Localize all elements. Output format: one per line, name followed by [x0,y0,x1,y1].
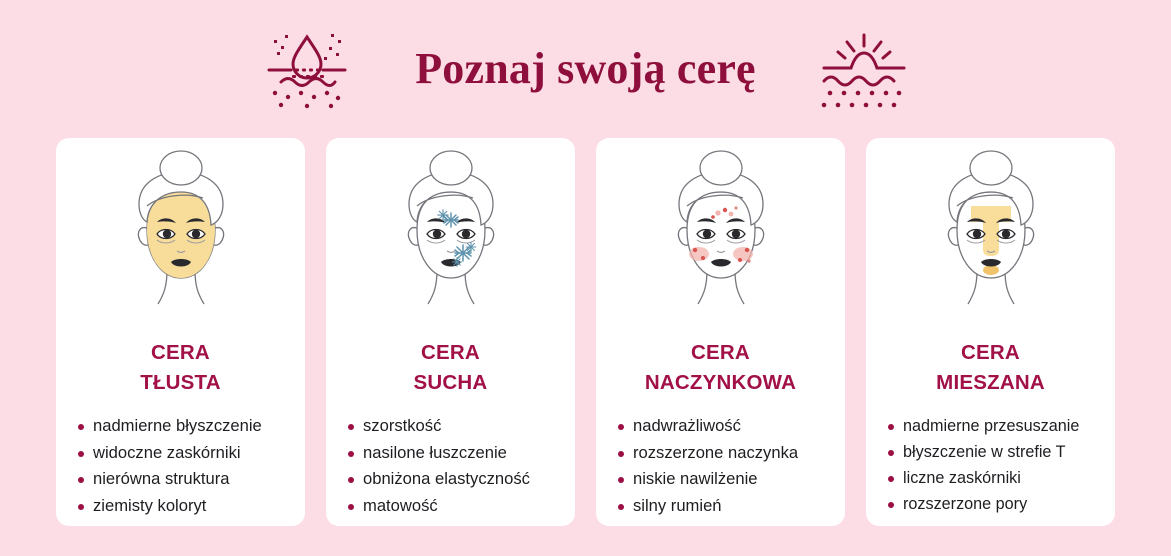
list-item: nadmierne błyszczenie [78,413,305,440]
face-oily-skin-illustration [81,150,281,322]
face-dry-skin-illustration [351,150,551,322]
list-item: ziemisty koloryt [78,493,305,520]
skin-type-card-oily[interactable]: CERA TŁUSTA nadmierne błyszczenie widocz… [56,138,305,526]
feature-list-oily: nadmierne błyszczenie widoczne zaskórnik… [56,413,305,521]
list-item: rozszerzone pory [888,491,1115,517]
card-title-combination: CERA MIESZANA [936,338,1045,399]
card-title-line1: CERA [140,338,221,368]
list-item: widoczne zaskórniki [78,440,305,467]
list-item: błyszczenie w strefie T [888,439,1115,465]
card-title-couperose: CERA NACZYNKOWA [645,338,796,399]
card-title-line2: NACZYNKOWA [645,368,796,398]
card-title-line2: MIESZANA [936,368,1045,398]
water-droplet-skin-icon [259,21,355,117]
list-item: rozszerzone naczynka [618,440,845,467]
list-item: liczne zaskórniki [888,465,1115,491]
list-item: nadwrażliwość [618,413,845,440]
card-title-line2: SUCHA [414,368,488,398]
list-item: nasilone łuszczenie [348,440,575,467]
card-title-line1: CERA [414,338,488,368]
pimple-skin-icon [816,21,912,117]
list-item: silny rumień [618,493,845,520]
page-title: Poznaj swoją cerę [415,47,756,91]
list-item: matowość [348,493,575,520]
card-title-oily: CERA TŁUSTA [140,338,221,399]
list-item: nierówna struktura [78,466,305,493]
feature-list-dry: szorstkość nasilone łuszczenie obniżona … [326,413,575,521]
list-item: nadmierne przesuszanie [888,413,1115,439]
card-title-line1: CERA [936,338,1045,368]
skin-type-card-combination[interactable]: CERA MIESZANA nadmierne przesuszanie bły… [866,138,1115,526]
skin-type-card-dry[interactable]: CERA SUCHA szorstkość nasilone łuszczeni… [326,138,575,526]
card-title-line2: TŁUSTA [140,368,221,398]
feature-list-couperose: nadwrażliwość rozszerzone naczynka niski… [596,413,845,521]
list-item: szorstkość [348,413,575,440]
face-couperose-skin-illustration [621,150,821,322]
feature-list-combination: nadmierne przesuszanie błyszczenie w str… [866,413,1115,518]
skin-type-card-couperose[interactable]: CERA NACZYNKOWA nadwrażliwość rozszerzon… [596,138,845,526]
card-title-dry: CERA SUCHA [414,338,488,399]
card-title-line1: CERA [645,338,796,368]
header: Poznaj swoją cerę [0,0,1171,138]
face-combination-skin-illustration [891,150,1091,322]
list-item: niskie nawilżenie [618,466,845,493]
list-item: obniżona elastyczność [348,466,575,493]
skin-type-cards: CERA TŁUSTA nadmierne błyszczenie widocz… [0,138,1171,526]
